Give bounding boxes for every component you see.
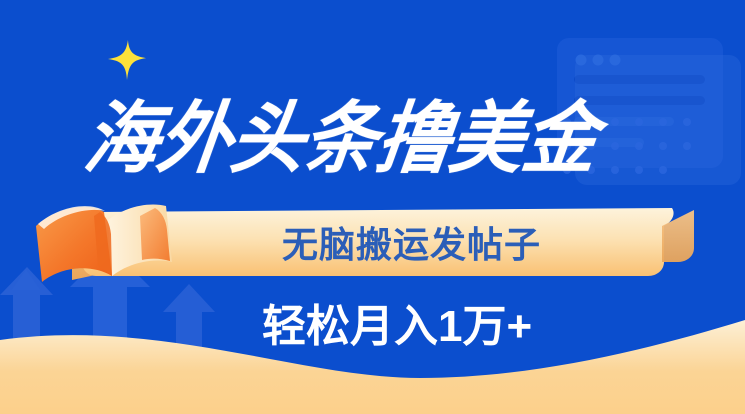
headline-container: 海外头条撸美金 xyxy=(85,96,705,182)
subtitle-ribbon: 无脑搬运发帖子 xyxy=(70,208,695,276)
tagline-text: 轻松月入1万+ xyxy=(262,305,532,349)
subtitle-text: 无脑搬运发帖子 xyxy=(70,208,695,276)
headline-text: 海外头条撸美金 xyxy=(80,100,601,178)
promo-poster: 海外头条撸美金 无脑搬运发帖子 轻松月入1万+ xyxy=(0,0,745,414)
star-sparkle-icon xyxy=(108,40,146,80)
